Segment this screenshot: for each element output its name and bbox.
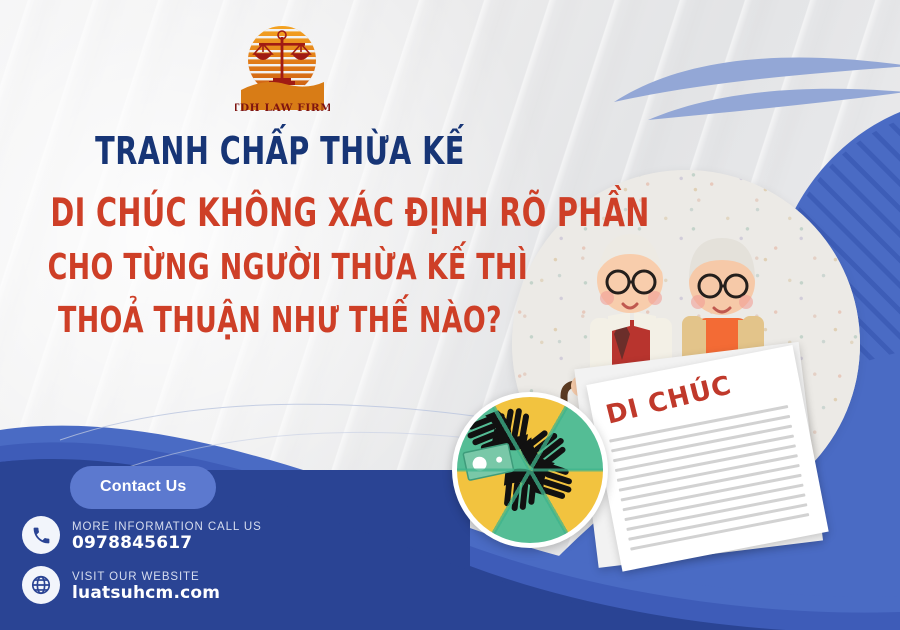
- logo-text: TDH LAW FIRM: [235, 102, 330, 114]
- footer-website-row[interactable]: VISIT OUR WEBSITE luatsuhcm.com: [22, 566, 262, 604]
- headline-line-3: CHO TỪNG NGƯỜI THỪA KẾ THÌ: [48, 250, 513, 286]
- decorative-swoosh-lower: [648, 86, 900, 130]
- will-paper-front: DI CHÚC: [586, 345, 828, 572]
- headline-block: TRANH CHẤP THỪA KẾ DI CHÚC KHÔNG XÁC ĐỊN…: [0, 132, 560, 339]
- pie-slices: [457, 397, 603, 543]
- contact-us-button[interactable]: Contact Us: [70, 466, 216, 509]
- footer-website-label: VISIT OUR WEBSITE: [72, 571, 200, 583]
- footer-phone-label: MORE INFORMATION CALL US: [72, 521, 262, 533]
- pie-hands-overlay: [457, 397, 603, 543]
- globe-icon: [22, 566, 60, 604]
- footer-phone-value: 0978845617: [72, 533, 192, 553]
- logo-banner: TDH LAW FIRM: [235, 82, 330, 114]
- will-text-lines: [609, 405, 811, 558]
- decorative-swoosh-upper: [612, 52, 900, 114]
- footer-website-value: luatsuhcm.com: [72, 583, 220, 603]
- footer-phone-row[interactable]: MORE INFORMATION CALL US 0978845617: [22, 516, 262, 554]
- inheritance-pie-chart: [452, 392, 608, 548]
- footer-phone-text: MORE INFORMATION CALL US 0978845617: [72, 517, 262, 554]
- headline-line-2: DI CHÚC KHÔNG XÁC ĐỊNH RÕ PHẦN: [50, 194, 509, 233]
- headline-line-1: TRANH CHẤP THỪA KẾ: [45, 132, 515, 172]
- brand-logo[interactable]: TDH LAW FIRM: [235, 18, 330, 118]
- poster-canvas: DI CHÚC: [0, 0, 900, 630]
- headline-line-4: THOẢ THUẬN NHƯ THẾ NÀO?: [48, 303, 513, 339]
- money-icon: [463, 443, 514, 480]
- hand-icon: [463, 405, 578, 514]
- will-document-illustration: DI CHÚC: [586, 345, 828, 572]
- footer-contact-block: MORE INFORMATION CALL US 0978845617 VISI…: [22, 516, 262, 616]
- footer-website-text: VISIT OUR WEBSITE luatsuhcm.com: [72, 567, 220, 604]
- phone-icon: [22, 516, 60, 554]
